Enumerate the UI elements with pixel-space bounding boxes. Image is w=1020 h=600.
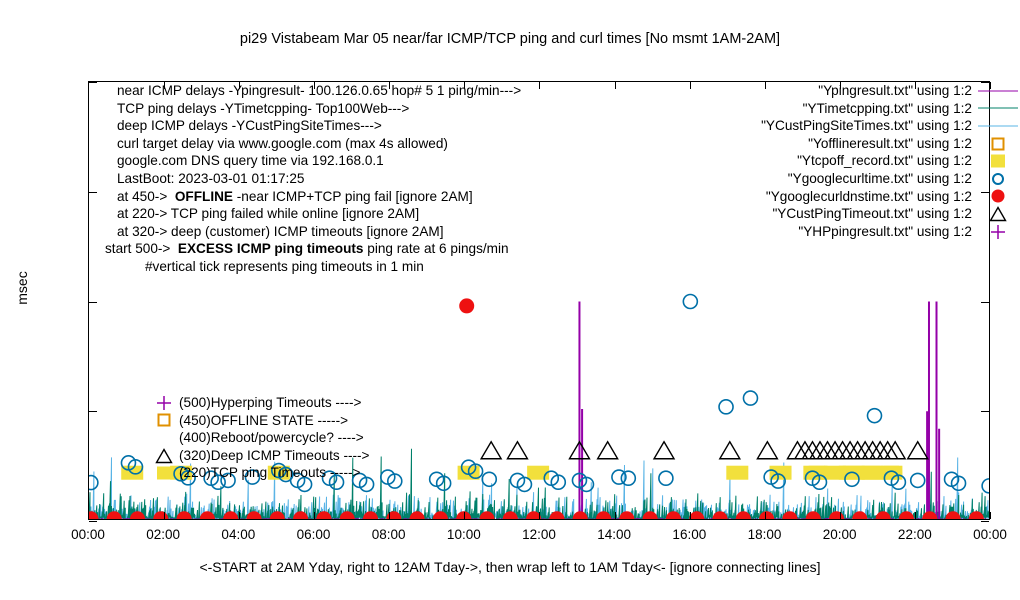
square-open-marker-icon bbox=[153, 412, 175, 430]
legend-label: "Ypingresult.txt" using 1:2 bbox=[818, 83, 972, 98]
legend-label: "Yofflineresult.txt" using 1:2 bbox=[808, 136, 972, 151]
legend-marker bbox=[976, 82, 1020, 100]
dns-time-marker bbox=[200, 511, 215, 519]
legend-label: "YCustPingSiteTimes.txt" using 1:2 bbox=[761, 118, 972, 133]
threshold-legend-item: (450)OFFLINE STATE -----> bbox=[179, 412, 370, 430]
x-tick-label: 06:00 bbox=[297, 527, 331, 542]
deep-icmp-timeout-marker bbox=[908, 442, 928, 459]
x-axis-label: <-START at 2AM Yday, right to 12AM Tday-… bbox=[0, 559, 1020, 575]
y-axis-label: msec bbox=[14, 258, 30, 318]
square-filled-marker-icon bbox=[976, 152, 1020, 170]
legend-item: "YCustPingSiteTimes.txt" using 1:2 bbox=[761, 117, 972, 135]
x-tick-label: 10:00 bbox=[447, 527, 481, 542]
annotation-line: curl target delay via www.google.com (ma… bbox=[105, 135, 521, 153]
x-tick-mark bbox=[314, 512, 315, 519]
threshold-label: (400)Reboot/powercycle? ----> bbox=[179, 430, 364, 445]
curl-time-marker bbox=[719, 400, 733, 414]
y-tick-mark bbox=[89, 411, 97, 412]
x-tick-mark bbox=[539, 82, 540, 89]
curl-time-marker bbox=[482, 472, 496, 486]
annotation-line: at 220-> TCP ping failed while online [i… bbox=[105, 205, 521, 223]
legend-marker bbox=[976, 100, 1020, 118]
threshold-label: (220)TCP ping Timeouts -----> bbox=[179, 465, 360, 480]
legend-label: "Ygooglecurltime.txt" using 1:2 bbox=[788, 171, 972, 186]
legend-marker bbox=[976, 205, 1020, 223]
square-open-marker-icon bbox=[976, 135, 1020, 153]
deep-icmp-timeout-marker bbox=[598, 442, 618, 459]
y-tick-mark bbox=[981, 521, 989, 522]
triangle-open-marker-icon bbox=[153, 447, 175, 465]
x-tick-label: 14:00 bbox=[597, 527, 631, 542]
legend-label: "YHPpingresult.txt" using 1:2 bbox=[798, 224, 972, 239]
y-tick-mark bbox=[981, 302, 989, 303]
x-tick-label: 16:00 bbox=[672, 527, 706, 542]
curl-time-marker bbox=[659, 471, 673, 485]
threshold-legend-item: (400)Reboot/powercycle? ----> bbox=[179, 429, 370, 447]
deep-icmp-timeout-marker bbox=[757, 442, 777, 459]
x-tick-label: 20:00 bbox=[823, 527, 857, 542]
plus-marker-icon bbox=[976, 223, 1020, 241]
x-tick-label: 04:00 bbox=[221, 527, 255, 542]
curl-time-marker bbox=[621, 471, 635, 485]
legend-item: "Yofflineresult.txt" using 1:2 bbox=[761, 135, 972, 153]
x-tick-label: 00:00 bbox=[71, 527, 105, 542]
line-marker-icon bbox=[976, 82, 1020, 100]
legend-marker bbox=[976, 152, 1020, 170]
deep-icmp-timeout-marker bbox=[654, 442, 674, 459]
curl-time-marker bbox=[982, 479, 989, 493]
threshold-label: (500)Hyperping Timeouts ----> bbox=[179, 395, 361, 410]
x-tick-mark bbox=[539, 512, 540, 519]
x-tick-mark bbox=[88, 512, 89, 519]
square-filled-marker-icon bbox=[153, 464, 175, 482]
x-tick-mark bbox=[765, 512, 766, 519]
x-tick-label: 12:00 bbox=[522, 527, 556, 542]
annotation-text-block: near ICMP delays -Ypingresult- 100.126.0… bbox=[105, 82, 521, 276]
circle-open-marker-icon bbox=[976, 170, 1020, 188]
legend-item: "Ygooglecurltime.txt" using 1:2 bbox=[761, 170, 972, 188]
annotation-line: #vertical tick represents ping timeouts … bbox=[105, 258, 521, 276]
y-tick-mark bbox=[89, 82, 97, 83]
threshold-marker bbox=[153, 447, 175, 465]
x-tick-mark bbox=[88, 82, 89, 89]
x-tick-mark bbox=[389, 512, 390, 519]
x-tick-label: 18:00 bbox=[748, 527, 782, 542]
annotation-line: google.com DNS query time via 192.168.0.… bbox=[105, 152, 521, 170]
tcp-timeout-marker bbox=[726, 466, 748, 480]
x-tick-mark bbox=[239, 512, 240, 519]
line-marker-icon bbox=[976, 117, 1020, 135]
triangle-open-marker-icon bbox=[976, 205, 1020, 223]
threshold-marker bbox=[153, 464, 175, 482]
legend-label: "YTimetcpping.txt" using 1:2 bbox=[803, 101, 972, 116]
plus-marker-icon bbox=[153, 394, 175, 412]
chart-title: pi29 Vistabeam Mar 05 near/far ICMP/TCP … bbox=[0, 31, 1020, 47]
line-marker-icon bbox=[976, 100, 1020, 118]
threshold-marker bbox=[153, 394, 175, 412]
legend-marker bbox=[976, 188, 1020, 206]
threshold-legend-item: (220)TCP ping Timeouts -----> bbox=[179, 464, 370, 482]
curl-time-marker bbox=[867, 409, 881, 423]
deep-icmp-timeout-marker bbox=[481, 442, 501, 459]
legend-item: "Ygooglecurldnstime.txt" using 1:2 bbox=[761, 188, 972, 206]
annotation-line: start 500-> EXCESS ICMP ping timeouts pi… bbox=[105, 240, 521, 258]
threshold-legend: (500)Hyperping Timeouts ---->(450)OFFLIN… bbox=[179, 394, 370, 482]
curl-time-marker bbox=[683, 295, 697, 309]
dns-time-marker bbox=[503, 511, 518, 519]
y-tick-mark bbox=[89, 521, 97, 522]
threshold-marker bbox=[153, 412, 175, 430]
x-tick-mark bbox=[990, 512, 991, 519]
y-tick-mark bbox=[89, 302, 97, 303]
circle-filled-marker-icon bbox=[976, 188, 1020, 206]
legend-item: "YCustPingTimeout.txt" using 1:2 bbox=[761, 205, 972, 223]
curl-time-marker bbox=[743, 391, 757, 405]
x-tick-mark bbox=[915, 512, 916, 519]
annotation-line: LastBoot: 2023-03-01 01:17:25 bbox=[105, 170, 521, 188]
curl-time-marker bbox=[911, 473, 925, 487]
legend-label: "YCustPingTimeout.txt" using 1:2 bbox=[772, 206, 972, 221]
legend-label: "Ygooglecurldnstime.txt" using 1:2 bbox=[766, 189, 972, 204]
legend-label: "Ytcpoff_record.txt" using 1:2 bbox=[797, 153, 972, 168]
threshold-label: (450)OFFLINE STATE -----> bbox=[179, 413, 348, 428]
x-tick-mark bbox=[690, 512, 691, 519]
threshold-legend-item: (320)Deep ICMP Timeouts ----> bbox=[179, 447, 370, 465]
x-tick-mark bbox=[615, 82, 616, 89]
annotation-line: TCP ping delays -YTimetcpping- Top100Web… bbox=[105, 100, 521, 118]
legend-marker bbox=[976, 223, 1020, 241]
x-tick-mark bbox=[464, 512, 465, 519]
legend-item: "Ypingresult.txt" using 1:2 bbox=[761, 82, 972, 100]
x-tick-mark bbox=[615, 512, 616, 519]
legend-marker bbox=[976, 135, 1020, 153]
x-tick-mark bbox=[690, 82, 691, 89]
x-tick-label: 08:00 bbox=[372, 527, 406, 542]
deep-icmp-timeout-marker bbox=[507, 442, 527, 459]
x-tick-mark bbox=[164, 512, 165, 519]
annotation-line: at 450-> OFFLINE -near ICMP+TCP ping fai… bbox=[105, 188, 521, 206]
legend-item: "Ytcpoff_record.txt" using 1:2 bbox=[761, 152, 972, 170]
annotation-line: deep ICMP delays -YCustPingSiteTimes---> bbox=[105, 117, 521, 135]
legend: "Ypingresult.txt" using 1:2"YTimetcpping… bbox=[761, 82, 972, 240]
annotation-line: near ICMP delays -Ypingresult- 100.126.0… bbox=[105, 82, 521, 100]
y-tick-mark bbox=[89, 192, 97, 193]
x-tick-label: 00:00 bbox=[973, 527, 1007, 542]
x-tick-label: 02:00 bbox=[146, 527, 180, 542]
y-tick-mark bbox=[981, 411, 989, 412]
legend-marker bbox=[976, 117, 1020, 135]
threshold-label: (320)Deep ICMP Timeouts ----> bbox=[179, 448, 370, 463]
x-tick-label: 22:00 bbox=[898, 527, 932, 542]
threshold-legend-item: (500)Hyperping Timeouts ----> bbox=[179, 394, 370, 412]
legend-item: "YHPpingresult.txt" using 1:2 bbox=[761, 223, 972, 241]
deep-icmp-timeout-marker bbox=[720, 442, 740, 459]
x-tick-mark bbox=[840, 512, 841, 519]
dns-time-outlier-marker bbox=[459, 298, 474, 313]
annotation-line: at 320-> deep (customer) ICMP timeouts [… bbox=[105, 223, 521, 241]
legend-item: "YTimetcpping.txt" using 1:2 bbox=[761, 100, 972, 118]
legend-marker bbox=[976, 170, 1020, 188]
